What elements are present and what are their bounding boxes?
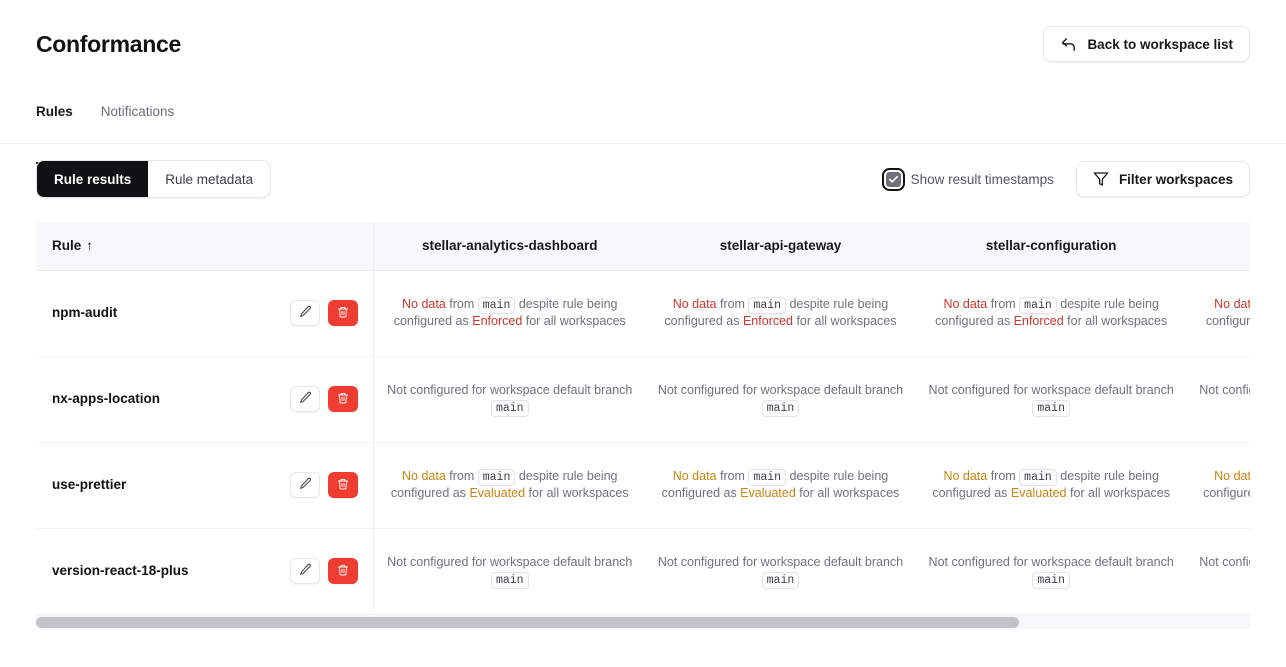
status-text: for all workspaces [796,486,900,500]
table-row: version-react-18-plusNot configured for … [36,528,1250,610]
result-cell: Not configured for workspace default bra… [916,356,1187,442]
status-text: Not configured for workspace default bra… [658,555,903,569]
branch-chip: main [491,572,529,589]
status-emphasis-red: Enforced [1014,314,1064,328]
branch-chip: main [1019,469,1057,486]
horizontal-scrollbar-thumb[interactable] [36,617,1019,628]
status-text: from [987,469,1019,483]
status-emphasis-red: No data [673,297,717,311]
branch-chip: main [762,400,800,417]
rule-actions [290,300,358,326]
column-header-workspace[interactable]: stellar-configuration [916,222,1187,270]
status-emphasis-red: Enforced [472,314,522,328]
result-cell: No data from main despite rule being con… [916,270,1187,356]
result-cell: No data from main despite rule being con… [645,270,916,356]
column-header-workspace[interactable]: stellar-design-system [1187,222,1250,270]
status-text: from [987,297,1019,311]
status-text: for all workspaces [1064,314,1168,328]
branch-chip: main [478,469,516,486]
rules-table-viewport: Rule↑ stellar-analytics-dashboard stella… [36,222,1250,610]
trash-icon [337,306,349,321]
branch-chip: main [1032,400,1070,417]
arrow-u-turn-left-icon [1060,36,1077,53]
checkbox-checked-icon[interactable] [886,172,901,187]
trash-icon [337,478,349,493]
rule-name: version-react-18-plus [52,562,189,580]
status-text: for all workspaces [522,314,626,328]
status-text: Not configured for workspace default bra… [387,555,632,569]
view-mode-segmented-control: Rule results Rule metadata [36,160,271,198]
show-result-timestamps-label: Show result timestamps [911,172,1054,187]
show-result-timestamps-toggle[interactable]: Show result timestamps [886,172,1054,187]
rule-actions [290,558,358,584]
table-header-row: Rule↑ stellar-analytics-dashboard stella… [36,222,1250,270]
conformance-page: Conformance Back to workspace list Rules… [0,0,1286,667]
tab-notifications[interactable]: Notifications [101,104,189,143]
rule-row-inner: npm-audit [52,300,358,326]
funnel-icon [1093,171,1109,187]
status-text: from [717,297,749,311]
rule-name: use-prettier [52,476,126,494]
status-text: for all workspaces [525,486,629,500]
table-body: npm-auditNo data from main despite rule … [36,270,1250,610]
table-row: npm-auditNo data from main despite rule … [36,270,1250,356]
back-to-workspace-list-label: Back to workspace list [1087,37,1233,52]
tabs-bar: Rules Notifications [0,104,1286,144]
rule-actions [290,472,358,498]
column-header-workspace[interactable]: stellar-api-gateway [645,222,916,270]
page-header: Conformance Back to workspace list [0,0,1286,88]
status-emphasis-amber: Evaluated [1011,486,1067,500]
trash-icon [337,392,349,407]
status-text: Not configured for workspace default bra… [658,383,903,397]
status-text: Not configured for workspace default bra… [1199,555,1250,569]
status-text: from [446,297,478,311]
rule-cell: version-react-18-plus [36,528,374,610]
result-cell: Not configured for workspace default bra… [374,528,645,610]
table-row: nx-apps-locationNot configured for works… [36,356,1250,442]
status-text: Not configured for workspace default bra… [1199,383,1250,397]
table-head: Rule↑ stellar-analytics-dashboard stella… [36,222,1250,270]
result-cell: Not configured for workspace default bra… [1187,528,1250,610]
column-header-workspace[interactable]: stellar-analytics-dashboard [374,222,645,270]
filter-workspaces-label: Filter workspaces [1119,172,1233,187]
filter-workspaces-button[interactable]: Filter workspaces [1076,161,1250,197]
rule-name: nx-apps-location [52,390,160,408]
delete-rule-button[interactable] [328,300,358,326]
tab-notifications-label: Notifications [101,104,175,119]
branch-chip: main [762,572,800,589]
result-cell: No data from main despite rule being con… [374,270,645,356]
result-cell: No data from main despite rule being con… [1187,442,1250,528]
branch-chip: main [748,469,786,486]
status-emphasis-red: No data [1214,297,1250,311]
edit-rule-button[interactable] [290,300,320,326]
status-text: for all workspaces [1067,486,1171,500]
status-emphasis-red: No data [943,297,987,311]
table-row: use-prettierNo data from main despite ru… [36,442,1250,528]
rule-cell: nx-apps-location [36,356,374,442]
status-emphasis-amber: No data [943,469,987,483]
status-emphasis-amber: No data [1214,469,1250,483]
result-cell: No data from main despite rule being con… [1187,270,1250,356]
status-emphasis-amber: No data [673,469,717,483]
tabs: Rules Notifications [36,104,1250,143]
status-text: Not configured for workspace default bra… [929,555,1174,569]
rule-name: npm-audit [52,304,117,322]
result-cell: Not configured for workspace default bra… [916,528,1187,610]
branch-chip: main [478,297,516,314]
rule-actions [290,386,358,412]
status-emphasis-amber: No data [402,469,446,483]
branch-chip: main [491,400,529,417]
result-cell: Not configured for workspace default bra… [1187,356,1250,442]
edit-rule-button[interactable] [290,472,320,498]
result-cell: No data from main despite rule being con… [916,442,1187,528]
status-text: Not configured for workspace default bra… [387,383,632,397]
status-text: for all workspaces [793,314,897,328]
branch-chip: main [1032,572,1070,589]
horizontal-scrollbar-track[interactable] [36,614,1250,629]
rule-cell: npm-audit [36,270,374,356]
sort-ascending-icon: ↑ [86,238,93,253]
edit-rule-button[interactable] [290,386,320,412]
tab-rules[interactable]: Rules [36,104,87,143]
rules-table: Rule↑ stellar-analytics-dashboard stella… [36,222,1250,610]
status-text: from [446,469,478,483]
result-cell: Not configured for workspace default bra… [645,528,916,610]
delete-rule-button[interactable] [328,558,358,584]
rule-row-inner: version-react-18-plus [52,558,358,584]
status-emphasis-red: Enforced [743,314,793,328]
status-text: Not configured for workspace default bra… [929,383,1174,397]
pencil-icon [299,563,312,579]
column-header-rule[interactable]: Rule↑ [36,222,374,270]
trash-icon [337,564,349,579]
result-cell: Not configured for workspace default bra… [374,356,645,442]
toolbar: Rule results Rule metadata Show result t… [0,160,1286,198]
status-emphasis-amber: Evaluated [469,486,525,500]
result-cell: Not configured for workspace default bra… [645,356,916,442]
rule-row-inner: use-prettier [52,472,358,498]
page-title: Conformance [36,31,181,58]
branch-chip: main [1019,297,1057,314]
toolbar-right: Show result timestamps Filter workspaces [886,161,1250,197]
segment-rule-results[interactable]: Rule results [37,161,148,197]
branch-chip: main [748,297,786,314]
pencil-icon [299,305,312,321]
pencil-icon [299,477,312,493]
delete-rule-button[interactable] [328,472,358,498]
delete-rule-button[interactable] [328,386,358,412]
column-header-rule-label: Rule [52,238,81,253]
rule-cell: use-prettier [36,442,374,528]
rule-row-inner: nx-apps-location [52,386,358,412]
pencil-icon [299,391,312,407]
status-emphasis-amber: Evaluated [740,486,796,500]
result-cell: No data from main despite rule being con… [374,442,645,528]
back-to-workspace-list-button[interactable]: Back to workspace list [1043,26,1250,62]
status-text: from [717,469,749,483]
segment-rule-metadata[interactable]: Rule metadata [148,161,270,197]
result-cell: No data from main despite rule being con… [645,442,916,528]
tab-rules-label: Rules [36,104,73,119]
edit-rule-button[interactable] [290,558,320,584]
status-emphasis-red: No data [402,297,446,311]
